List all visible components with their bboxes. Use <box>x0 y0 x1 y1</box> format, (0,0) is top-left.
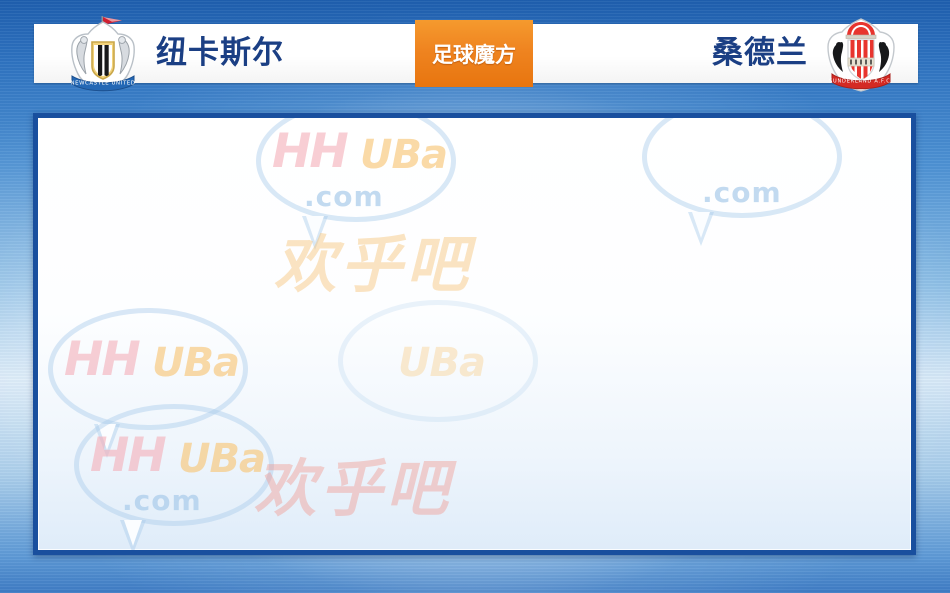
watermark-bubble-bottom: HH UBa .com <box>74 404 274 554</box>
watermark-bubble-top-right: .com <box>642 113 842 246</box>
page-root: NEWCASTLE UNITED 纽卡斯尔 桑德兰 <box>0 0 950 593</box>
svg-text:NEWCASTLE UNITED: NEWCASTLE UNITED <box>70 81 135 87</box>
watermark-uba-bottom: UBa <box>178 436 265 482</box>
watermark-hh-mid: HH <box>64 332 139 387</box>
watermark-uba-mid: UBa <box>152 340 239 386</box>
home-team-name: 纽卡斯尔 <box>156 24 284 83</box>
watermark-hh-top: HH <box>272 124 347 179</box>
site-logo[interactable]: 足球魔方 <box>415 20 533 87</box>
watermark-com-top: .com <box>304 180 384 213</box>
watermark-cn-top: 欢乎吧 <box>274 214 472 304</box>
watermark-bubble-center: UBa <box>338 300 538 450</box>
site-logo-text: 足球魔方 <box>432 39 516 69</box>
watermark-cn-bottom: 欢乎吧 <box>254 438 452 528</box>
watermark-com-top-right: .com <box>702 176 782 209</box>
newcastle-united-crest-icon: NEWCASTLE UNITED <box>64 14 142 96</box>
home-team-crest[interactable]: NEWCASTLE UNITED <box>64 14 142 96</box>
watermark-hh-bottom: HH <box>90 428 165 483</box>
svg-text:SUNDERLAND A.F.C.: SUNDERLAND A.F.C. <box>829 79 893 85</box>
panel-inner-edge <box>38 118 911 550</box>
watermark-uba-center: UBa <box>398 340 485 386</box>
away-team-name: 桑德兰 <box>712 24 808 83</box>
watermark-bubble-mid: HH UBa <box>48 308 248 458</box>
venue-info-panel: HH UBa .com .com 欢乎吧 HH UBa HH UBa .com … <box>33 113 916 555</box>
watermark-bubble-top: HH UBa .com <box>256 113 456 250</box>
away-team-crest[interactable]: SUNDERLAND A.F.C. <box>822 14 900 96</box>
watermark-com-bottom: .com <box>122 484 202 517</box>
sunderland-afc-crest-icon: SUNDERLAND A.F.C. <box>822 14 900 96</box>
watermark-uba-top: UBa <box>360 132 447 178</box>
